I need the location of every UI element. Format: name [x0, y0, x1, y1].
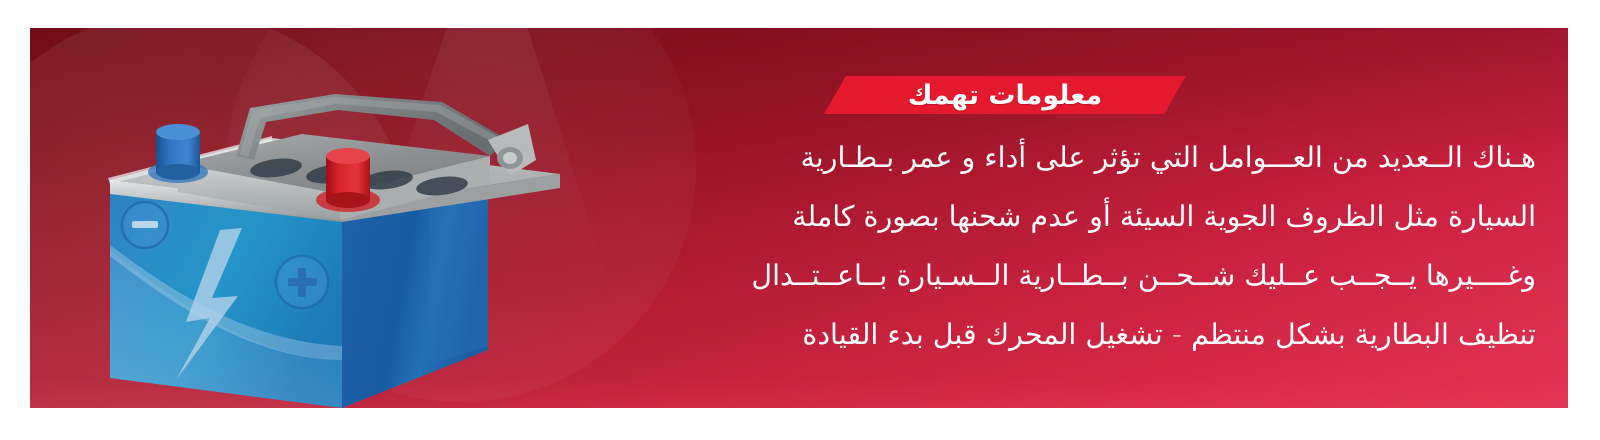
banner-content: معلومات تهمك هـناك الــعديد من العـــوام…: [556, 68, 1536, 364]
body-line-1: هـناك الــعديد من العـــوامل التي تؤثر ع…: [556, 128, 1536, 187]
positive-terminal-symbol: [276, 256, 328, 308]
title-ribbon: معلومات تهمك: [824, 76, 1186, 114]
body-line-2: السيارة مثل الظروف الجوية السيئة أو عدم …: [556, 187, 1536, 246]
body-line-4: تنظيف البطارية بشكل منتظم - تشغيل المحرك…: [556, 305, 1536, 364]
banner-body-text: هـناك الــعديد من العـــوامل التي تؤثر ع…: [556, 128, 1536, 364]
banner-title: معلومات تهمك: [908, 82, 1103, 109]
title-ribbon-wrap: معلومات تهمك: [556, 68, 1536, 112]
negative-terminal-symbol: [122, 202, 168, 248]
info-banner: معلومات تهمك هـناك الــعديد من العـــوام…: [30, 28, 1568, 408]
body-line-3: وغــــيرها يــجــب عــليك شــحــن بــطــ…: [556, 246, 1536, 305]
negative-terminal-post: [148, 124, 208, 183]
car-battery-illustration: [90, 60, 560, 408]
